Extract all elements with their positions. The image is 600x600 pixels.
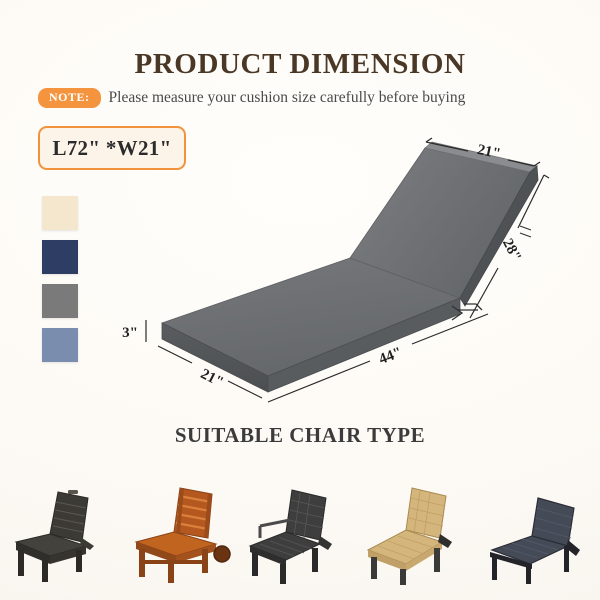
chair-natural-wicker-lounger [360, 476, 478, 588]
section-title-chair-type: SUITABLE CHAIR TYPE [0, 423, 600, 448]
chair-wheel [214, 546, 230, 562]
chair-backrest [174, 488, 212, 538]
chair-black-slatted-lounger [6, 476, 124, 588]
color-swatch-beige[interactable] [42, 196, 78, 230]
chair-list [0, 458, 600, 588]
hinge-tab [520, 226, 531, 237]
label-seat-width: 21" [198, 366, 226, 391]
note-text: Please measure your cushion size careful… [109, 89, 466, 107]
chair-backrest [406, 488, 446, 538]
chair-dark-wicker-lounger [242, 476, 360, 588]
chair-backrest [286, 490, 326, 540]
color-swatch-navy[interactable] [42, 240, 78, 274]
cushion-diagram: 21" 28" 3" 21" 44" [100, 130, 600, 410]
cushion-svg: 21" 28" 3" 21" 44" [100, 130, 600, 410]
label-seat-length: 44" [377, 345, 405, 368]
chair-navy-sling-lounger [478, 476, 596, 588]
color-swatch-gray[interactable] [42, 284, 78, 318]
color-swatch-list [42, 196, 78, 362]
note-badge: NOTE: [38, 88, 101, 108]
infographic-page: PRODUCT DIMENSION NOTE: Please measure y… [0, 0, 600, 600]
label-seat-thickness: 3" [122, 325, 138, 341]
page-title: PRODUCT DIMENSION [0, 48, 600, 81]
note-row: NOTE: Please measure your cushion size c… [38, 88, 465, 108]
chair-wood-slatted-lounger [124, 476, 242, 588]
chair-recliner-arm [318, 536, 332, 550]
color-swatch-slate-blue[interactable] [42, 328, 78, 362]
chair-backrest [50, 490, 88, 542]
